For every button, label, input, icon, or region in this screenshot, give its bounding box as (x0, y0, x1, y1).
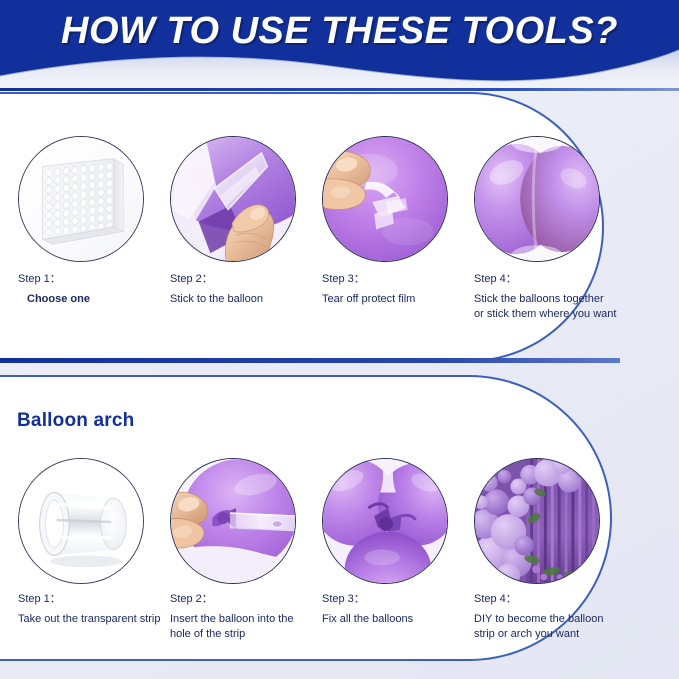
page-root: HOW TO USE THESE TOOLS? (0, 0, 679, 679)
section-divider (0, 358, 620, 363)
balloon-arch-display-image (474, 458, 600, 584)
step-text: Take out the transparent strip (18, 612, 166, 627)
steps-row-balloon-arch: Step 1： Take out the transparent strip (14, 458, 664, 642)
step-caption: Step 4： Stick the balloons together or s… (474, 272, 622, 322)
glue-dot-sheet-image (18, 136, 144, 262)
step-image-wrap (322, 458, 448, 584)
section-title-balloon-arch: Balloon arch (17, 410, 134, 432)
step-image-wrap (474, 458, 600, 584)
step-card-arch-2: Step 2： Insert the balloon into the hole… (166, 458, 318, 642)
balloon-arch-display-art (475, 459, 599, 583)
step-card-arch-4: Step 4： DIY to become the balloon strip … (470, 458, 622, 642)
transparent-tape-roll-image (18, 458, 144, 584)
balloons-fixed-on-strip-image (322, 458, 448, 584)
step-card-glue-3: Step 3： Tear off protect film (318, 136, 470, 322)
step-label: Step 1： (18, 592, 166, 607)
page-title: HOW TO USE THESE TOOLS? (0, 0, 679, 62)
step-text: Choose one (27, 292, 166, 307)
step-text: Tear off protect film (322, 292, 470, 307)
balloons-fixed-on-strip-art (323, 459, 447, 583)
step-image-wrap (474, 136, 600, 262)
step-card-glue-4: Step 4： Stick the balloons together or s… (470, 136, 622, 322)
hand-peeling-strip-art (171, 137, 295, 261)
steps-row-glue-dots: Step 1： Choose one (14, 136, 664, 322)
transparent-tape-roll-art (19, 459, 143, 583)
step-label: Step 4： (474, 272, 622, 287)
hand-peeling-strip-image (170, 136, 296, 262)
step-text: Stick to the balloon (170, 292, 318, 307)
header-underline (0, 88, 679, 91)
step-caption: Step 4： DIY to become the balloon strip … (474, 592, 622, 642)
glue-dot-sheet-art (19, 137, 143, 261)
tear-protect-film-art (323, 137, 447, 261)
step-card-arch-1: Step 1： Take out the transparent strip (14, 458, 166, 642)
step-image-wrap (170, 458, 296, 584)
step-caption: Step 3： Tear off protect film (322, 272, 470, 307)
step-card-glue-1: Step 1： Choose one (14, 136, 166, 322)
step-label: Step 3： (322, 592, 470, 607)
page-header: HOW TO USE THESE TOOLS? (0, 0, 679, 92)
two-balloons-joined-art (475, 137, 599, 261)
step-image-wrap (170, 136, 296, 262)
step-text: Fix all the balloons (322, 612, 470, 627)
step-label: Step 2： (170, 592, 318, 607)
step-caption: Step 3： Fix all the balloons (322, 592, 470, 627)
step-caption: Step 2： Insert the balloon into the hole… (170, 592, 318, 642)
step-caption: Step 2： Stick to the balloon (170, 272, 318, 307)
step-image-wrap (322, 136, 448, 262)
step-label: Step 1： (18, 272, 166, 287)
step-text: Insert the balloon into the hole of the … (170, 612, 318, 642)
step-label: Step 2： (170, 272, 318, 287)
step-label: Step 3： (322, 272, 470, 287)
step-image-wrap (18, 458, 144, 584)
step-card-arch-3: Step 3： Fix all the balloons (318, 458, 470, 642)
two-balloons-joined-image (474, 136, 600, 262)
step-text: Stick the balloons together or stick the… (474, 292, 622, 322)
step-caption: Step 1： Choose one (18, 272, 166, 307)
step-image-wrap (18, 136, 144, 262)
insert-balloon-into-strip-art (171, 459, 295, 583)
step-label: Step 4： (474, 592, 622, 607)
tear-protect-film-image (322, 136, 448, 262)
insert-balloon-into-strip-image (170, 458, 296, 584)
step-card-glue-2: Step 2： Stick to the balloon (166, 136, 318, 322)
step-text: DIY to become the balloon strip or arch … (474, 612, 622, 642)
step-caption: Step 1： Take out the transparent strip (18, 592, 166, 627)
